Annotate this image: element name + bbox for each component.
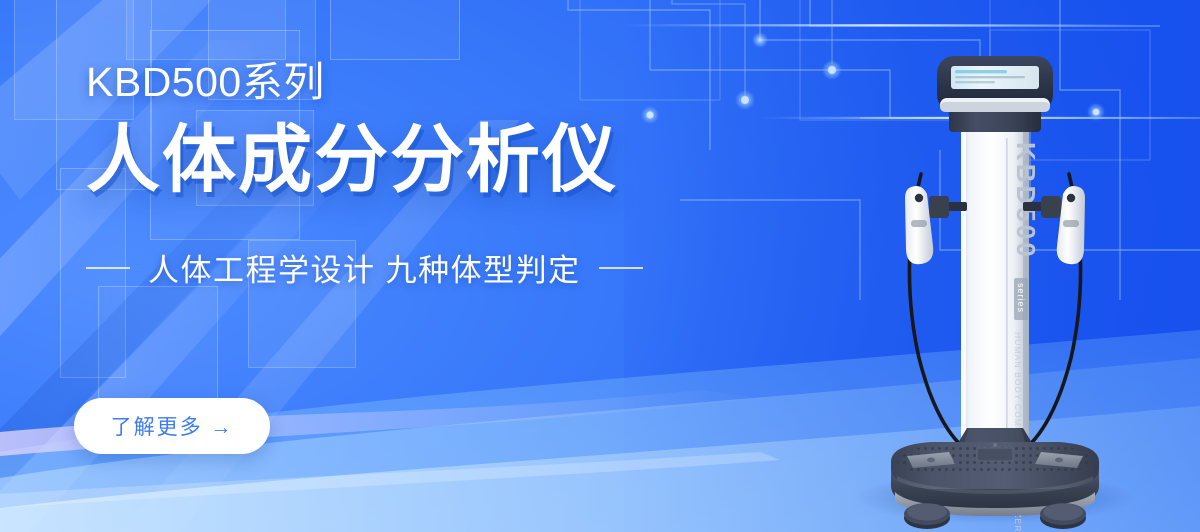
banner-copy: KBD500系列 人体成分分析仪 人体工程学设计 九种体型判定 bbox=[86, 62, 726, 290]
banner-headline: 人体成分分析仪 bbox=[86, 121, 726, 199]
device-left-handle bbox=[905, 186, 967, 264]
background-rectangle bbox=[126, 0, 286, 60]
learn-more-button[interactable]: 了解更多 → bbox=[74, 398, 270, 454]
banner-eyebrow: KBD500系列 bbox=[86, 62, 726, 103]
device-image: KBD500 series HUMAN BODY COMPOSITION ANA… bbox=[845, 46, 1145, 532]
device-series-badge: series bbox=[1016, 283, 1026, 313]
tagline-dash-right bbox=[599, 267, 643, 269]
tagline-text: 人体工程学设计 九种体型判定 bbox=[148, 245, 581, 290]
device-brand-text: KBD500 bbox=[1011, 142, 1041, 260]
banner-tagline: 人体工程学设计 九种体型判定 bbox=[86, 245, 726, 290]
product-banner: KBD500系列 人体成分分析仪 人体工程学设计 九种体型判定 了解更多 → bbox=[0, 0, 1200, 532]
learn-more-label: 了解更多 → bbox=[111, 411, 234, 441]
tagline-dash-left bbox=[86, 267, 130, 269]
device-display bbox=[937, 56, 1053, 132]
background-rectangle bbox=[98, 286, 218, 416]
background-rectangle bbox=[330, 0, 460, 60]
